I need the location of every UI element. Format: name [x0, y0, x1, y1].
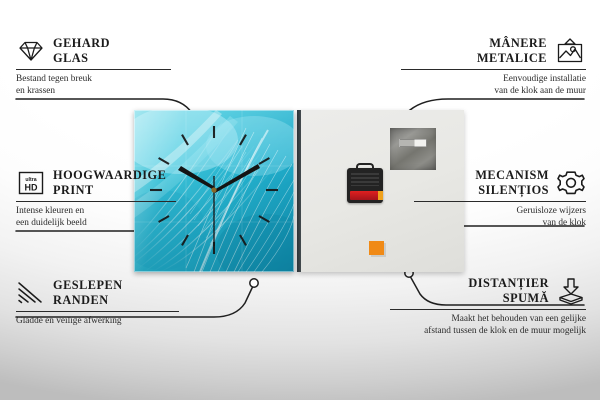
diamond-icon [16, 39, 46, 63]
picture-frame-hanging-icon [554, 37, 586, 65]
feature-divider [16, 69, 171, 70]
hands-hub [211, 187, 216, 192]
mechanism-ribs [351, 173, 379, 186]
feature-subtitle: Intense kleuren en een duidelijk beeld [16, 206, 191, 229]
feature-divider [16, 311, 179, 312]
minute-hand [214, 164, 260, 193]
mechanism-hook [356, 163, 374, 169]
feature-divider [16, 201, 176, 202]
feature-title: MÂNERE METALICE [477, 36, 547, 66]
feature-subtitle: Geruisloze wijzers van de klok [414, 206, 586, 229]
hanger-slot [399, 139, 427, 147]
feature-foam-spacer: DISTANȚIER SPUMĂ Maakt het behouden van … [390, 276, 586, 337]
feature-title: MECANISM SILENȚIOS [475, 168, 549, 198]
connector-dot-ground-edges [250, 279, 258, 287]
feature-metal-hangers: MÂNERE METALICE Eenvoudige installatie v… [401, 36, 586, 97]
feature-title: GEHARD GLAS [53, 36, 110, 66]
feature-subtitle: Bestand tegen breuk en krassen [16, 74, 186, 97]
feature-subtitle: Maakt het behouden van een gelijke afsta… [390, 314, 586, 337]
feature-subtitle: Gladde en veilige afwerking [16, 316, 192, 328]
battery [350, 191, 380, 200]
feature-divider [390, 309, 586, 310]
feature-divider [401, 69, 586, 70]
feature-title: DISTANȚIER SPUMĂ [468, 276, 549, 306]
feature-title: GESLEPEN RANDEN [53, 278, 123, 308]
feature-divider [414, 201, 586, 202]
clock-side-edge [297, 110, 301, 272]
foam-spacer-pad [369, 241, 384, 255]
metal-hanger-plate [390, 128, 436, 170]
infographic-canvas: GEHARD GLAS Bestand tegen breuk en krass… [0, 0, 600, 400]
feature-silent-mechanism: MECANISM SILENȚIOS Geruisloze wijzers va… [414, 168, 586, 229]
feature-title: HOOGWAARDIGE PRINT [53, 168, 166, 198]
arrow-down-onto-pad-icon [556, 277, 586, 305]
svg-text:HD: HD [25, 183, 38, 193]
beveled-edge-icon [16, 281, 46, 305]
ultra-hd-icon: ultra HD [16, 170, 46, 196]
gear-icon [556, 169, 586, 197]
feature-subtitle: Eenvoudige installatie van de klok aan d… [401, 74, 586, 97]
feature-tempered-glass: GEHARD GLAS Bestand tegen breuk en krass… [16, 36, 186, 97]
feature-hd-print: ultra HD HOOGWAARDIGE PRINT Intense kleu… [16, 168, 191, 229]
battery-terminal [378, 191, 383, 200]
quartz-mechanism-box [347, 168, 383, 203]
feature-ground-edges: GESLEPEN RANDEN Gladde en veilige afwerk… [16, 278, 192, 328]
